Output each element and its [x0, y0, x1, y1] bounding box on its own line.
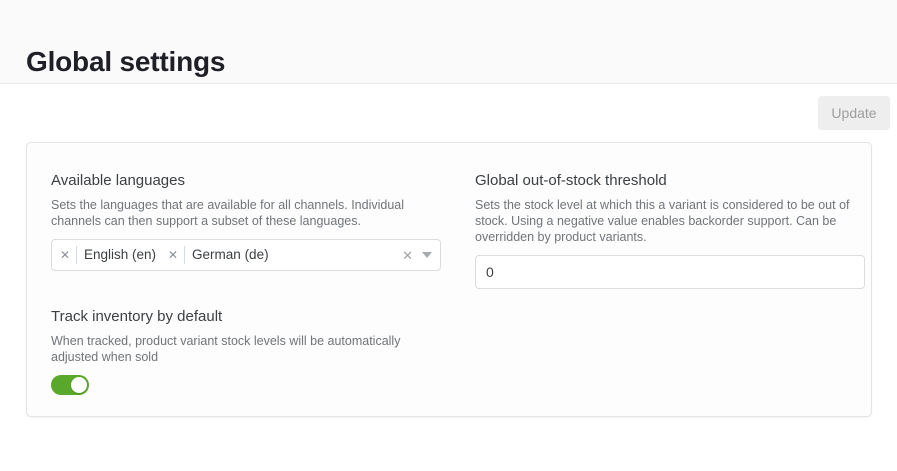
- out-of-stock-threshold-input[interactable]: [475, 255, 865, 289]
- clear-all-icon[interactable]: ✕: [402, 249, 413, 262]
- chip-divider: [184, 246, 185, 264]
- language-chip[interactable]: ✕ English (en): [58, 244, 156, 266]
- languages-multiselect[interactable]: ✕ English (en) ✕ German (de) ✕: [51, 239, 441, 271]
- out-of-stock-threshold-description: Sets the stock level at which this a var…: [475, 197, 865, 245]
- settings-grid: Available languages Sets the languages t…: [27, 143, 871, 416]
- toggle-knob: [71, 377, 87, 393]
- available-languages-description: Sets the languages that are available fo…: [51, 197, 441, 229]
- field-available-languages: Available languages Sets the languages t…: [51, 171, 441, 271]
- page-header: Global settings: [0, 0, 897, 84]
- track-inventory-toggle[interactable]: [51, 375, 89, 395]
- language-chip-label: English (en): [84, 246, 156, 264]
- settings-card: Available languages Sets the languages t…: [26, 142, 872, 417]
- settings-page: Global settings Update Available languag…: [0, 0, 897, 471]
- available-languages-label: Available languages: [51, 171, 441, 191]
- chip-divider: [76, 246, 77, 264]
- field-track-inventory: Track inventory by default When tracked,…: [51, 307, 441, 395]
- out-of-stock-threshold-label: Global out-of-stock threshold: [475, 171, 865, 191]
- field-out-of-stock-threshold: Global out-of-stock threshold Sets the s…: [475, 171, 865, 289]
- language-chip[interactable]: ✕ German (de): [166, 244, 269, 266]
- language-chip-list: ✕ English (en) ✕ German (de): [58, 244, 402, 266]
- update-button[interactable]: Update: [818, 96, 890, 130]
- action-bar: Update: [0, 85, 897, 141]
- track-inventory-label: Track inventory by default: [51, 307, 441, 327]
- chevron-down-icon[interactable]: [422, 252, 432, 258]
- track-inventory-description: When tracked, product variant stock leve…: [51, 333, 441, 365]
- close-icon[interactable]: ✕: [58, 248, 72, 262]
- multiselect-actions: ✕: [402, 249, 434, 262]
- close-icon[interactable]: ✕: [166, 248, 180, 262]
- language-chip-label: German (de): [192, 246, 269, 264]
- page-title: Global settings: [26, 45, 225, 79]
